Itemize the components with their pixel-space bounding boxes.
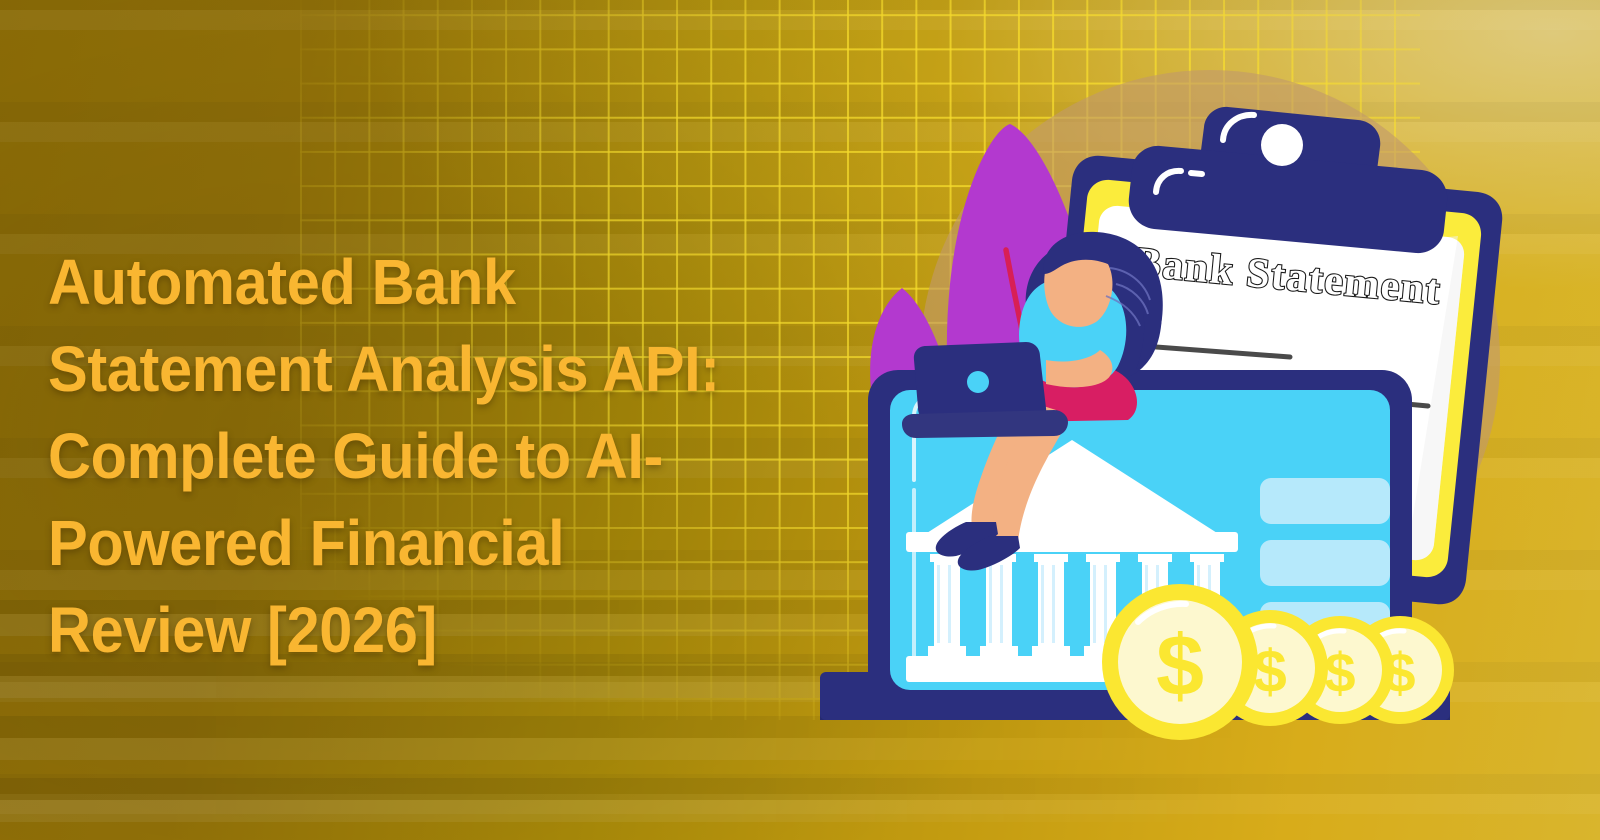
page-title: Automated Bank Statement Analysis API: C… [48,239,736,674]
svg-text:$: $ [1156,618,1204,714]
hero-illustration: Bank Statement [810,60,1530,760]
hero-banner: Automated Bank Statement Analysis API: C… [0,0,1600,840]
svg-text:$: $ [1324,641,1355,704]
coin-item-front: $ [1102,584,1258,740]
svg-text:$: $ [1253,638,1286,705]
